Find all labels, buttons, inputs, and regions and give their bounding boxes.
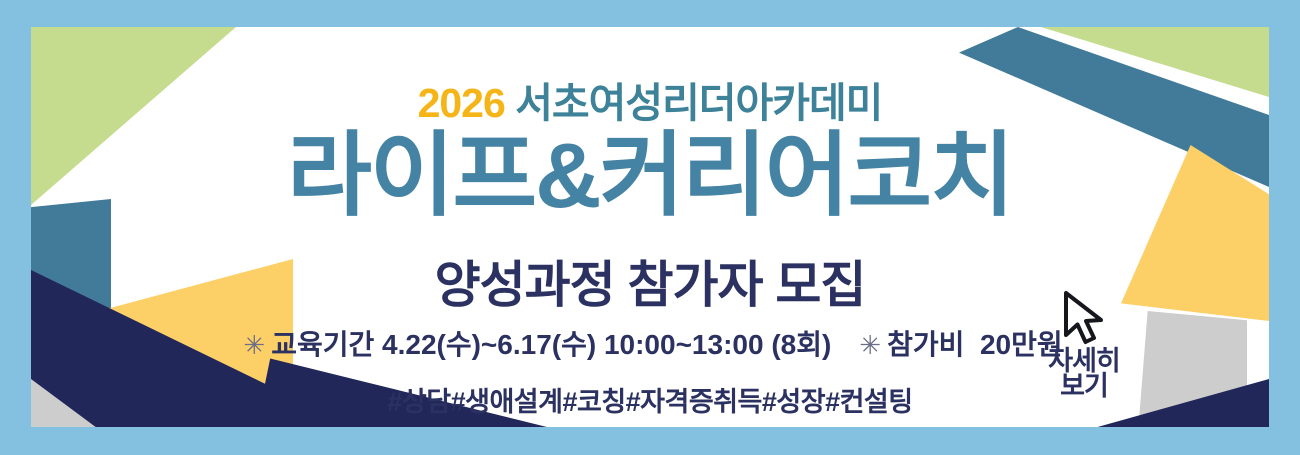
period-label: 교육기간 (271, 329, 374, 360)
banner-content: 2026 서초여성리더아카데미 라이프&커리어코치 양성과정 참가자 모집 ✳교… (31, 27, 1269, 427)
eyebrow-program-name: 서초여성리더아카데미 (515, 80, 882, 126)
eyebrow-year: 2026 (418, 80, 505, 126)
promo-banner: 2026 서초여성리더아카데미 라이프&커리어코치 양성과정 참가자 모집 ✳교… (0, 0, 1300, 455)
period-value: 4.22(수)~6.17(수) 10:00~13:00 (8회) (382, 329, 831, 360)
fee-label: 참가비 (887, 329, 964, 360)
asterisk-icon-period: ✳ (237, 330, 271, 360)
banner-headline: 라이프&커리어코치 (31, 130, 1269, 222)
view-details-label-line2: 보기 (1024, 372, 1144, 401)
view-details-button[interactable]: 자세히 보기 (1024, 289, 1144, 400)
banner-card: 2026 서초여성리더아카데미 라이프&커리어코치 양성과정 참가자 모집 ✳교… (31, 27, 1269, 427)
banner-eyebrow: 2026 서초여성리더아카데미 (31, 69, 1269, 129)
mouse-cursor-arrow-icon (1028, 289, 1144, 351)
asterisk-icon-fee: ✳ (853, 330, 887, 360)
